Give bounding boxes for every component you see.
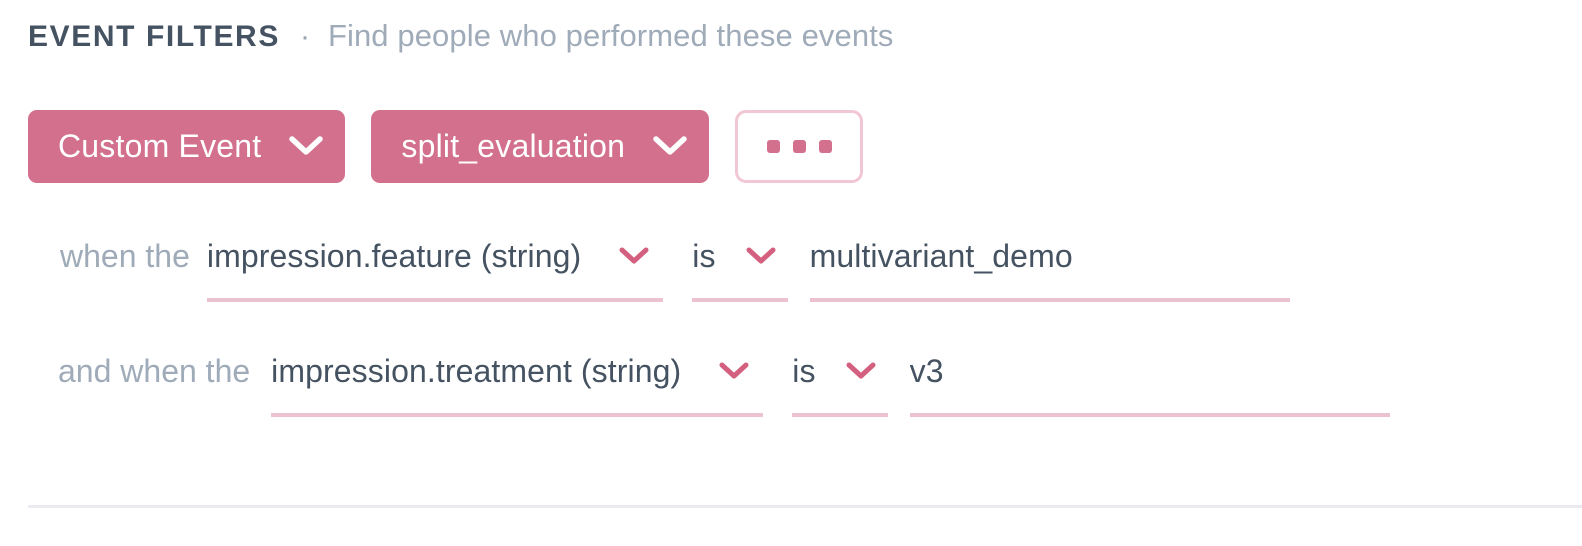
- condition-prefix-label: and when the: [58, 347, 250, 417]
- operator-value: is: [792, 347, 815, 395]
- operator-select[interactable]: is: [792, 347, 887, 417]
- operator-value: is: [692, 232, 715, 280]
- event-name-dropdown[interactable]: split_evaluation: [371, 110, 709, 183]
- ellipsis-icon: [819, 140, 832, 153]
- value-input[interactable]: multivariant_demo: [810, 232, 1290, 302]
- chevron-down-icon: [619, 247, 649, 266]
- section-subtitle: Find people who performed these events: [328, 18, 894, 54]
- ellipsis-icon: [793, 140, 806, 153]
- chevron-down-icon: [289, 136, 323, 157]
- ellipsis-icon: [767, 140, 780, 153]
- operator-select[interactable]: is: [692, 232, 787, 302]
- condition-value: multivariant_demo: [810, 232, 1073, 280]
- chevron-down-icon: [653, 136, 687, 157]
- property-select[interactable]: impression.treatment (string): [271, 347, 763, 417]
- property-value: impression.treatment (string): [271, 347, 681, 395]
- event-type-dropdown[interactable]: Custom Event: [28, 110, 345, 183]
- page-title: EVENT FILTERS: [28, 20, 280, 54]
- filter-condition-row: when the impression.feature (string) is …: [60, 232, 1290, 302]
- property-value: impression.feature (string): [207, 232, 581, 280]
- value-input[interactable]: v3: [910, 347, 1390, 417]
- chevron-down-icon: [846, 362, 876, 381]
- chevron-down-icon: [746, 247, 776, 266]
- event-name-label: split_evaluation: [401, 128, 625, 165]
- condition-prefix-label: when the: [60, 232, 190, 302]
- condition-value: v3: [910, 347, 944, 395]
- header-separator-dot: ·: [300, 22, 310, 52]
- event-selector-row: Custom Event split_evaluation: [28, 110, 863, 183]
- chevron-down-icon: [719, 362, 749, 381]
- event-filters-panel: EVENT FILTERS · Find people who performe…: [0, 0, 1582, 546]
- section-header: EVENT FILTERS · Find people who performe…: [28, 18, 894, 54]
- section-divider: [28, 505, 1582, 508]
- more-options-button[interactable]: [735, 110, 863, 183]
- filter-condition-row: and when the impression.treatment (strin…: [58, 347, 1390, 417]
- event-type-label: Custom Event: [58, 128, 261, 165]
- property-select[interactable]: impression.feature (string): [207, 232, 663, 302]
